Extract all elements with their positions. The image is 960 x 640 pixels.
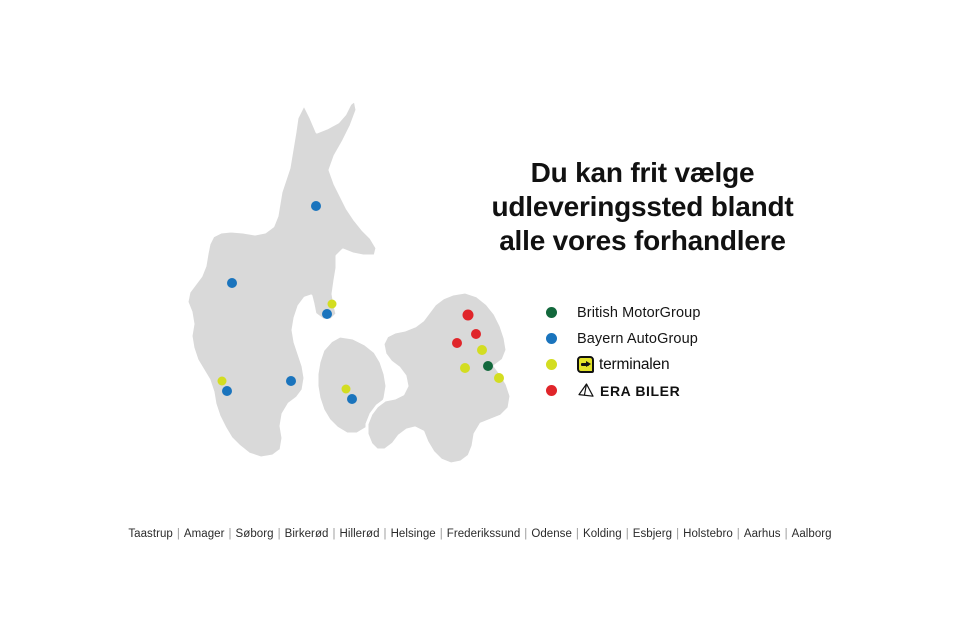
map-infographic: Du kan frit vælge udleveringssted blandt… xyxy=(0,0,960,640)
city-separator: | xyxy=(328,528,339,540)
headline-line-2: udleveringssted blandt xyxy=(470,190,815,224)
city-separator: | xyxy=(380,528,391,540)
era-biler-logo: ERA BILER xyxy=(577,383,680,399)
legend-item-british-motorgroup: British MotorGroup xyxy=(546,300,826,325)
map-marker xyxy=(328,300,337,309)
city-item: Taastrup xyxy=(128,528,173,540)
headline-line-1: Du kan frit vælge xyxy=(470,156,815,190)
legend-swatch-green xyxy=(546,307,557,318)
map-marker xyxy=(483,361,493,371)
legend-item-terminalen: terminalen xyxy=(546,352,826,377)
city-separator: | xyxy=(733,528,744,540)
era-triangle-icon xyxy=(577,383,595,398)
city-item: Holstebro xyxy=(683,528,733,540)
city-item: Aarhus xyxy=(744,528,781,540)
headline-line-3: alle vores forhandlere xyxy=(470,224,815,258)
legend-label-terminalen: terminalen xyxy=(599,356,669,374)
city-item: Søborg xyxy=(236,528,274,540)
city-item: Birkerød xyxy=(285,528,329,540)
city-separator: | xyxy=(781,528,792,540)
terminalen-logo: terminalen xyxy=(577,356,669,374)
legend-swatch-yellow xyxy=(546,359,557,370)
legend: British MotorGroup Bayern AutoGroup term… xyxy=(546,300,826,404)
legend-swatch-blue xyxy=(546,333,557,344)
map-marker xyxy=(222,386,232,396)
city-separator: | xyxy=(274,528,285,540)
legend-label-bayern-autogroup: Bayern AutoGroup xyxy=(577,331,698,347)
denmark-map xyxy=(185,98,515,498)
city-item: Aalborg xyxy=(792,528,832,540)
map-marker xyxy=(311,201,321,211)
map-marker xyxy=(322,309,332,319)
zealand-shape xyxy=(367,292,511,464)
map-marker xyxy=(471,329,481,339)
map-marker xyxy=(494,373,504,383)
legend-label-era-biler: ERA BILER xyxy=(600,383,680,399)
city-item: Amager xyxy=(184,528,225,540)
city-separator: | xyxy=(622,528,633,540)
city-item: Hillerød xyxy=(340,528,380,540)
city-item: Kolding xyxy=(583,528,622,540)
map-marker xyxy=(452,338,462,348)
city-item: Odense xyxy=(531,528,572,540)
city-separator: | xyxy=(225,528,236,540)
headline: Du kan frit vælge udleveringssted blandt… xyxy=(470,156,815,258)
legend-item-era-biler: ERA BILER xyxy=(546,378,826,403)
map-marker xyxy=(286,376,296,386)
map-marker xyxy=(460,363,470,373)
map-marker xyxy=(463,310,474,321)
city-separator: | xyxy=(520,528,531,540)
map-marker xyxy=(347,394,357,404)
city-item: Esbjerg xyxy=(633,528,672,540)
legend-item-bayern-autogroup: Bayern AutoGroup xyxy=(546,326,826,351)
city-separator: | xyxy=(672,528,683,540)
legend-label-british-motorgroup: British MotorGroup xyxy=(577,305,700,321)
city-separator: | xyxy=(572,528,583,540)
map-marker xyxy=(227,278,237,288)
city-separator: | xyxy=(173,528,184,540)
legend-swatch-red xyxy=(546,385,557,396)
city-item: Helsinge xyxy=(391,528,436,540)
map-marker xyxy=(477,345,487,355)
terminalen-mark-icon xyxy=(577,356,594,373)
map-marker xyxy=(342,385,351,394)
map-marker xyxy=(218,377,227,386)
denmark-map-svg xyxy=(185,98,515,498)
city-separator: | xyxy=(436,528,447,540)
city-list: Taastrup|Amager|Søborg|Birkerød|Hillerød… xyxy=(0,528,960,540)
city-item: Frederikssund xyxy=(447,528,521,540)
